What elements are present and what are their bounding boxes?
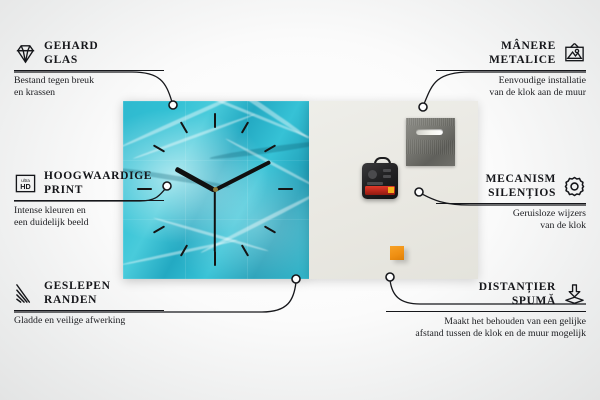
svg-text:HD: HD [20,182,31,191]
callout-hoogwaardige-print[interactable]: ultra HD HOOGWAARDIGE PRINT Intense kleu… [14,170,164,230]
clock-tick [214,251,216,266]
callout-description: Maakt het behouden van een gelijke afsta… [386,316,586,341]
polished-edges-icon [14,282,37,305]
callout-description: Gladde en veilige afwerking [14,315,164,327]
callout-description: Geruisloze wijzers van de klok [436,208,586,233]
callout-rule [436,203,586,204]
callout-title: GESLEPEN RANDEN [44,280,111,307]
metal-hanger-plate [406,118,455,166]
callout-manere-metalice[interactable]: MÂNERE METALICE Eenvoudige installatie v… [436,40,586,100]
callout-rule [14,70,164,71]
callout-rule [436,70,586,71]
diamond-icon [14,42,37,65]
callout-description: Eenvoudige installatie van de klok aan d… [436,75,586,100]
product-photo [123,101,478,279]
callout-description: Intense kleuren en een duidelijk beeld [14,205,164,230]
second-hand [214,190,216,252]
callout-description: Bestand tegen breuk en krassen [14,75,164,100]
callout-rule [386,311,586,312]
callout-title: MECANISM SILENȚIOS [486,173,556,200]
callout-rule [14,310,164,311]
clock-tick [214,113,216,128]
callout-geslepen-randen[interactable]: GESLEPEN RANDEN Gladde en veilige afwerk… [14,280,164,327]
picture-frame-icon [563,42,586,65]
ultra-hd-icon: ultra HD [14,172,37,195]
gear-icon [563,175,586,198]
callout-gehard-glas[interactable]: GEHARD GLAS Bestand tegen breuk en krass… [14,40,164,100]
callout-title: GEHARD GLAS [44,40,98,67]
hanger-keyhole-slot [416,129,443,135]
callout-title: MÂNERE METALICE [489,40,556,67]
spacer-down-arrow-icon [563,283,586,306]
callout-distantier-spuma[interactable]: DISTANȚIER SPUMĂ Maakt het behouden van … [386,281,586,341]
clock-movement [362,163,398,199]
callout-title: DISTANȚIER SPUMĂ [479,281,556,308]
callout-title: HOOGWAARDIGE PRINT [44,170,152,197]
foam-spacer [390,246,404,260]
battery-plus-marker [388,187,394,193]
callout-mecanism-silentios[interactable]: MECANISM SILENȚIOS Geruisloze wijzers va… [436,173,586,233]
callout-rule [14,200,164,201]
hand-pin [213,187,218,192]
clock-tick [278,188,293,190]
infographic-canvas: GEHARD GLAS Bestand tegen breuk en krass… [0,0,600,400]
battery [365,186,395,195]
